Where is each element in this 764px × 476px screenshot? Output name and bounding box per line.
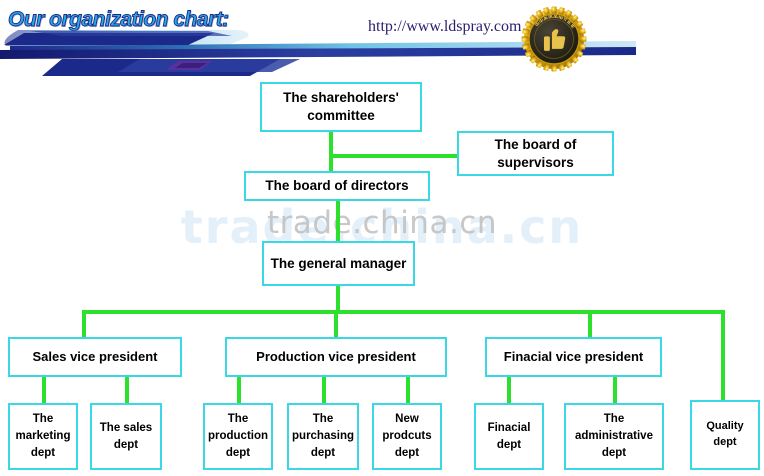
node-sales-vice-president[interactable]: Sales vice president — [8, 337, 182, 377]
connector-bus-to-production-vp — [334, 310, 338, 338]
connector-production-vp-to-newproducts-dept — [406, 376, 410, 404]
connector-sales-vp-to-marketing-dept — [42, 376, 46, 404]
node-board-of-directors[interactable]: The board of directors — [244, 171, 430, 201]
connector-main-bus — [82, 310, 725, 314]
connector-bus-to-finacial-vp — [588, 310, 592, 338]
connector-shareholders-to-directors — [329, 131, 333, 173]
node-finacial-vice-president[interactable]: Finacial vice president — [485, 337, 662, 377]
watermark-text: trade.china.cn — [0, 205, 764, 241]
connector-sales-vp-to-sales-dept — [125, 376, 129, 404]
node-production-vice-president[interactable]: Production vice president — [225, 337, 447, 377]
guarantee-seal-thumbs-up-icon: G U A R A N T E E G U A R A N T E E — [521, 6, 587, 72]
node-general-manager[interactable]: The general manager — [262, 241, 415, 286]
node-new-products-dept[interactable]: New prodcuts dept — [372, 403, 442, 470]
node-finacial-dept[interactable]: Finacial dept — [474, 403, 544, 470]
node-production-dept[interactable]: The production dept — [203, 403, 273, 470]
node-quality-dept[interactable]: Quality dept — [690, 400, 760, 470]
website-url: http://www.ldspray.com — [368, 18, 521, 36]
organization-chart-page: Our organization chart: — [0, 0, 764, 476]
node-administrative-dept[interactable]: The administrative dept — [564, 403, 664, 470]
connector-bus-to-sales-vp — [82, 310, 86, 338]
connector-finacial-vp-to-finacial-dept — [507, 376, 511, 404]
connector-directors-to-gm — [336, 200, 340, 242]
connector-production-vp-to-purchasing-dept — [322, 376, 326, 404]
node-sales-dept[interactable]: The sales dept — [90, 403, 162, 470]
connector-bus-to-quality-dept — [721, 310, 725, 402]
connector-finacial-vp-to-administrative-dept — [613, 376, 617, 404]
connector-production-vp-to-production-dept — [237, 376, 241, 404]
connector-directors-to-supervisors — [329, 154, 459, 158]
node-board-of-supervisors[interactable]: The board of supervisors — [457, 131, 614, 176]
node-shareholders-committee[interactable]: The shareholders' committee — [260, 82, 422, 132]
node-purchasing-dept[interactable]: The purchasing dept — [287, 403, 359, 470]
node-marketing-dept[interactable]: The marketing dept — [8, 403, 78, 470]
